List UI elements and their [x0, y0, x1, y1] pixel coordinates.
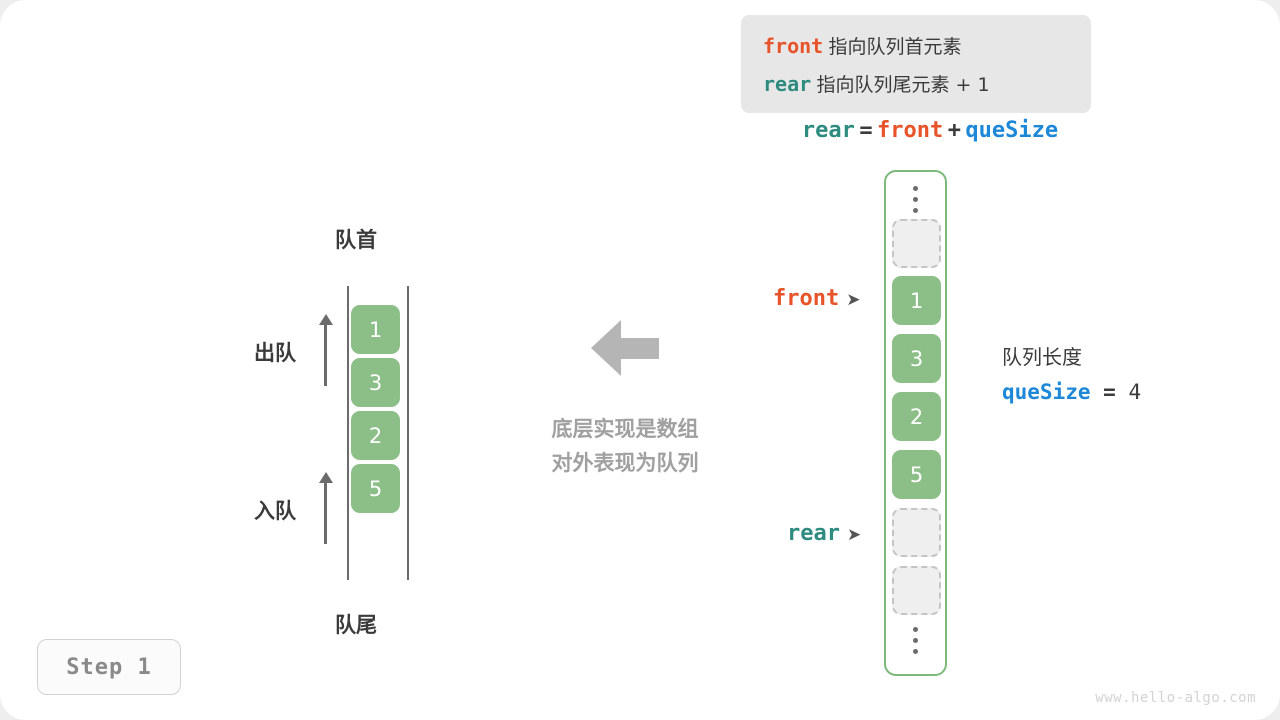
formula-equals: =: [859, 118, 872, 143]
step-badge: Step 1: [37, 639, 181, 695]
formula-quesize: queSize: [965, 118, 1058, 143]
legend-line-rear: rear 指向队列尾元素 + 1: [763, 66, 1091, 104]
legend-desc-rear: 指向队列尾元素 + 1: [816, 74, 989, 96]
array-cell-filled: 5: [892, 450, 941, 499]
formula-rear: rear: [802, 118, 855, 143]
quesize-note: 队列长度 queSize = 4: [1002, 341, 1141, 404]
array-cell-empty: [892, 219, 941, 268]
front-pointer-text: front: [773, 286, 839, 311]
formula-plus: +: [948, 118, 961, 143]
ellipsis-top-icon: [913, 186, 919, 219]
center-note-line1: 底层实现是数组: [510, 412, 740, 446]
pointer-legend-box: front 指向队列首元素 rear 指向队列尾元素 + 1: [741, 15, 1091, 113]
quesize-value: 4: [1128, 380, 1141, 404]
rear-pointer-label: rear➤: [787, 521, 861, 546]
left-arrow-icon: [591, 320, 659, 376]
diagram-canvas: front 指向队列首元素 rear 指向队列尾元素 + 1 rear = fr…: [0, 0, 1280, 720]
dequeue-arrow-icon: [324, 323, 327, 386]
rear-formula: rear = front + queSize: [760, 118, 1100, 143]
array-cell-empty: [892, 566, 941, 615]
array-cell-filled: 2: [892, 392, 941, 441]
array-cell-filled: 3: [892, 334, 941, 383]
front-pointer-label: front➤: [773, 286, 860, 311]
enqueue-label: 入队: [254, 495, 296, 525]
legend-term-front: front: [763, 34, 823, 58]
queue-tail-label: 队尾: [335, 609, 377, 639]
queue-rail-left: [347, 286, 349, 580]
quesize-name: queSize: [1002, 380, 1091, 404]
array-container: 1 3 2 5: [884, 170, 947, 676]
rear-pointer-text: rear: [787, 521, 840, 546]
quesize-expression: queSize = 4: [1002, 380, 1141, 404]
enqueue-arrow-icon: [324, 481, 327, 544]
quesize-title: 队列长度: [1002, 341, 1141, 370]
watermark: www.hello-algo.com: [1095, 690, 1256, 706]
legend-line-front: front 指向队列首元素: [763, 28, 1091, 66]
queue-rail-right: [407, 286, 409, 580]
queue-box: 1: [351, 305, 400, 354]
front-caret-icon: ➤: [846, 290, 860, 310]
array-cell-filled: 1: [892, 276, 941, 325]
legend-term-rear: rear: [763, 72, 811, 96]
queue-head-label: 队首: [335, 224, 377, 254]
formula-front: front: [877, 118, 943, 143]
legend-desc-front: 指向队列首元素: [829, 36, 962, 58]
dequeue-label: 出队: [254, 337, 296, 367]
quesize-equals: =: [1103, 380, 1116, 404]
ellipsis-bottom-icon: [913, 627, 919, 660]
queue-box: 5: [351, 464, 400, 513]
rear-caret-icon: ➤: [847, 525, 861, 545]
center-note-line2: 对外表现为队列: [510, 446, 740, 480]
queue-box: 2: [351, 411, 400, 460]
array-cell-empty: [892, 508, 941, 557]
center-note: 底层实现是数组 对外表现为队列: [510, 412, 740, 480]
queue-box: 3: [351, 358, 400, 407]
